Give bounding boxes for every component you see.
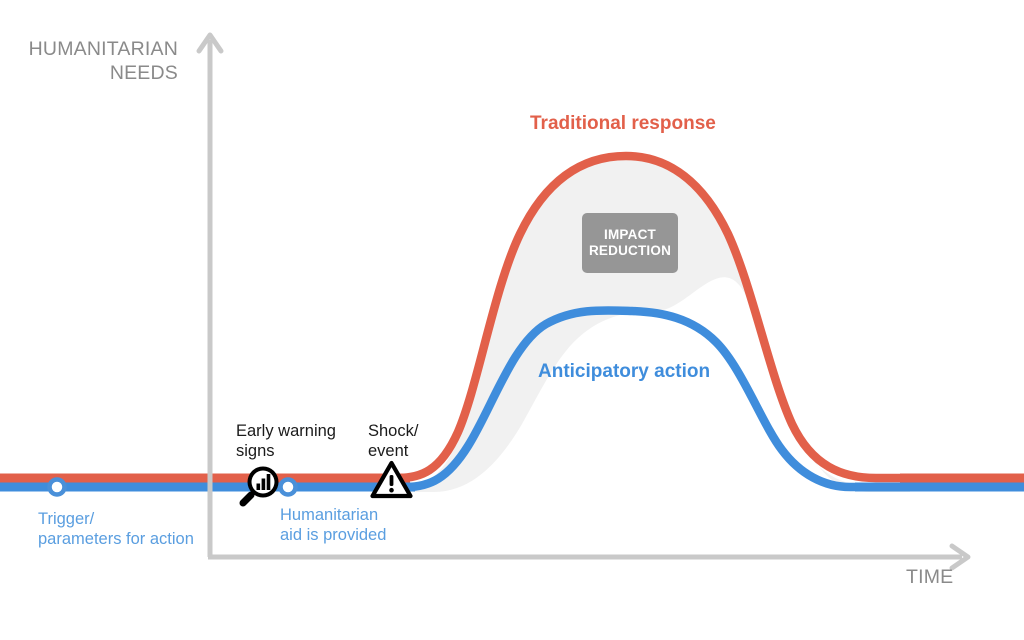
x-axis-label: TIME xyxy=(906,566,953,590)
trigger-marker-dot[interactable] xyxy=(50,480,65,495)
y-axis-label: HUMANITARIAN NEEDS xyxy=(0,38,178,86)
chart-canvas: HUMANITARIAN NEEDS TIME Traditional resp… xyxy=(0,0,1024,640)
warning-triangle-icon[interactable] xyxy=(369,459,414,501)
note-trigger-parameters: Trigger/ parameters for action xyxy=(38,509,194,549)
impact-reduction-badge-line2: REDUCTION xyxy=(589,243,671,259)
event-label-early-warning: Early warning signs xyxy=(236,421,336,461)
impact-reduction-shaded-area xyxy=(404,157,910,492)
magnifier-chart-icon[interactable] xyxy=(239,461,285,507)
series-label-traditional-response: Traditional response xyxy=(530,112,716,135)
impact-reduction-badge-line1: IMPACT xyxy=(604,227,656,243)
note-humanitarian-aid: Humanitarian aid is provided xyxy=(280,505,386,545)
impact-reduction-badge: IMPACT REDUCTION xyxy=(582,213,678,273)
event-label-shock: Shock/ event xyxy=(368,421,418,461)
series-label-anticipatory-action: Anticipatory action xyxy=(538,360,710,383)
